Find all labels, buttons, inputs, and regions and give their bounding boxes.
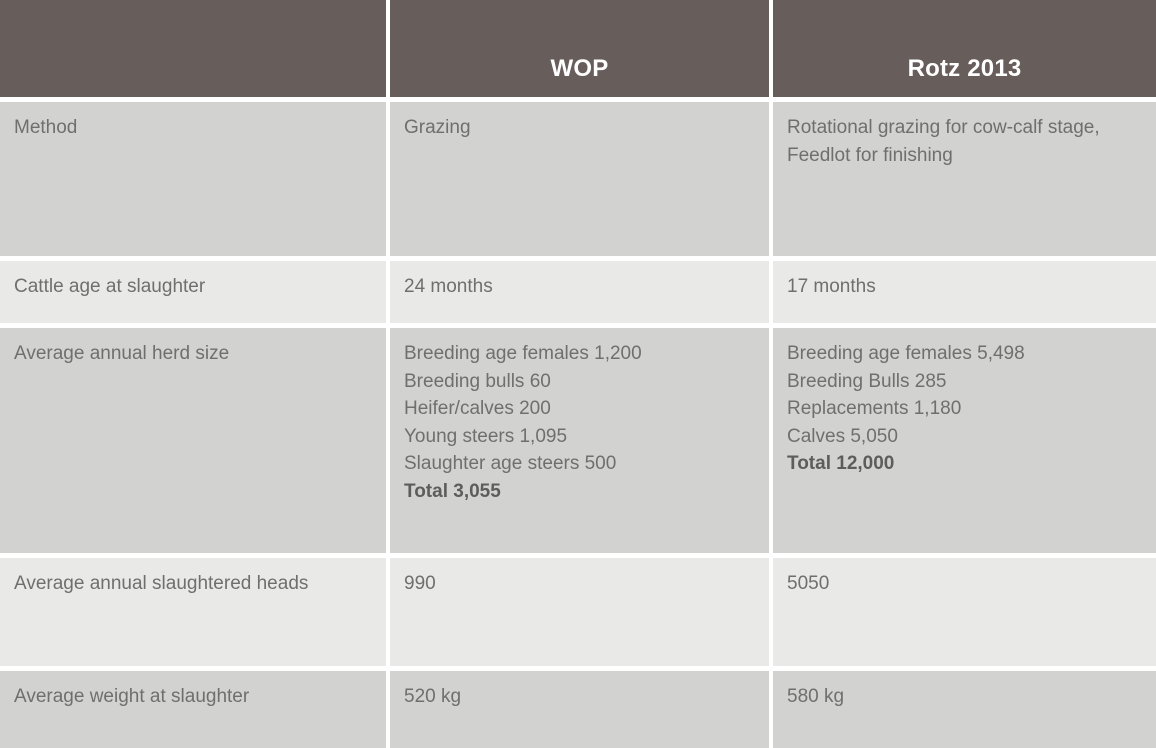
cell-text-rotz: 5050	[787, 570, 1156, 598]
table-row: Cattle age at slaughter 24 months 17 mon…	[0, 261, 1156, 323]
header-label-rotz: Rotz 2013	[908, 57, 1022, 81]
cell-wop: 24 months	[390, 261, 769, 323]
cell-text-attribute: Average weight at slaughter	[14, 683, 386, 711]
cell-total-rotz: Total 12,000	[787, 450, 1156, 478]
cell-total-wop: Total 3,055	[404, 478, 769, 506]
cell-text-wop: 990	[404, 570, 769, 598]
cell-rotz: 5050	[773, 558, 1156, 666]
cell-text-wop: 520 kg	[404, 683, 769, 711]
table-header-row: WOP Rotz 2013	[0, 0, 1156, 97]
cell-rotz: Breeding age females 5,498 Breeding Bull…	[773, 328, 1156, 553]
header-cell-rotz: Rotz 2013	[773, 0, 1156, 97]
table-row: Method Grazing Rotational grazing for co…	[0, 102, 1156, 256]
cell-attribute: Average annual herd size	[0, 328, 386, 553]
cell-wop: 990	[390, 558, 769, 666]
cell-attribute: Method	[0, 102, 386, 256]
cell-text-rotz: Rotational grazing for cow-calf stage, F…	[787, 114, 1127, 169]
header-cell-wop: WOP	[390, 0, 769, 97]
cell-text-rotz: 17 months	[787, 273, 1156, 301]
cell-wop: 520 kg	[390, 671, 769, 748]
cell-text-rotz: Breeding age females 5,498 Breeding Bull…	[787, 340, 1156, 450]
cell-rotz: 17 months	[773, 261, 1156, 323]
cell-attribute: Average annual slaughtered heads	[0, 558, 386, 666]
cell-text-wop: Breeding age females 1,200 Breeding bull…	[404, 340, 769, 478]
table-row: Average annual herd size Breeding age fe…	[0, 328, 1156, 553]
cell-rotz: Rotational grazing for cow-calf stage, F…	[773, 102, 1156, 256]
header-cell-attribute	[0, 0, 386, 97]
cell-attribute: Cattle age at slaughter	[0, 261, 386, 323]
cell-wop: Breeding age females 1,200 Breeding bull…	[390, 328, 769, 553]
cell-text-attribute: Average annual slaughtered heads	[14, 570, 386, 598]
cell-text-wop: 24 months	[404, 273, 769, 301]
cell-rotz: 580 kg	[773, 671, 1156, 748]
table-row: Average weight at slaughter 520 kg 580 k…	[0, 671, 1156, 748]
cell-text-attribute: Cattle age at slaughter	[14, 273, 386, 301]
cell-text-wop: Grazing	[404, 114, 769, 142]
cell-wop: Grazing	[390, 102, 769, 256]
cell-attribute: Average weight at slaughter	[0, 671, 386, 748]
comparison-table: WOP Rotz 2013 Method Grazing Rotational …	[0, 0, 1156, 747]
header-label-wop: WOP	[551, 57, 609, 81]
cell-text-rotz: 580 kg	[787, 683, 1156, 711]
cell-text-attribute: Average annual herd size	[14, 340, 386, 368]
table-row: Average annual slaughtered heads 990 505…	[0, 558, 1156, 666]
cell-text-attribute: Method	[14, 114, 386, 142]
